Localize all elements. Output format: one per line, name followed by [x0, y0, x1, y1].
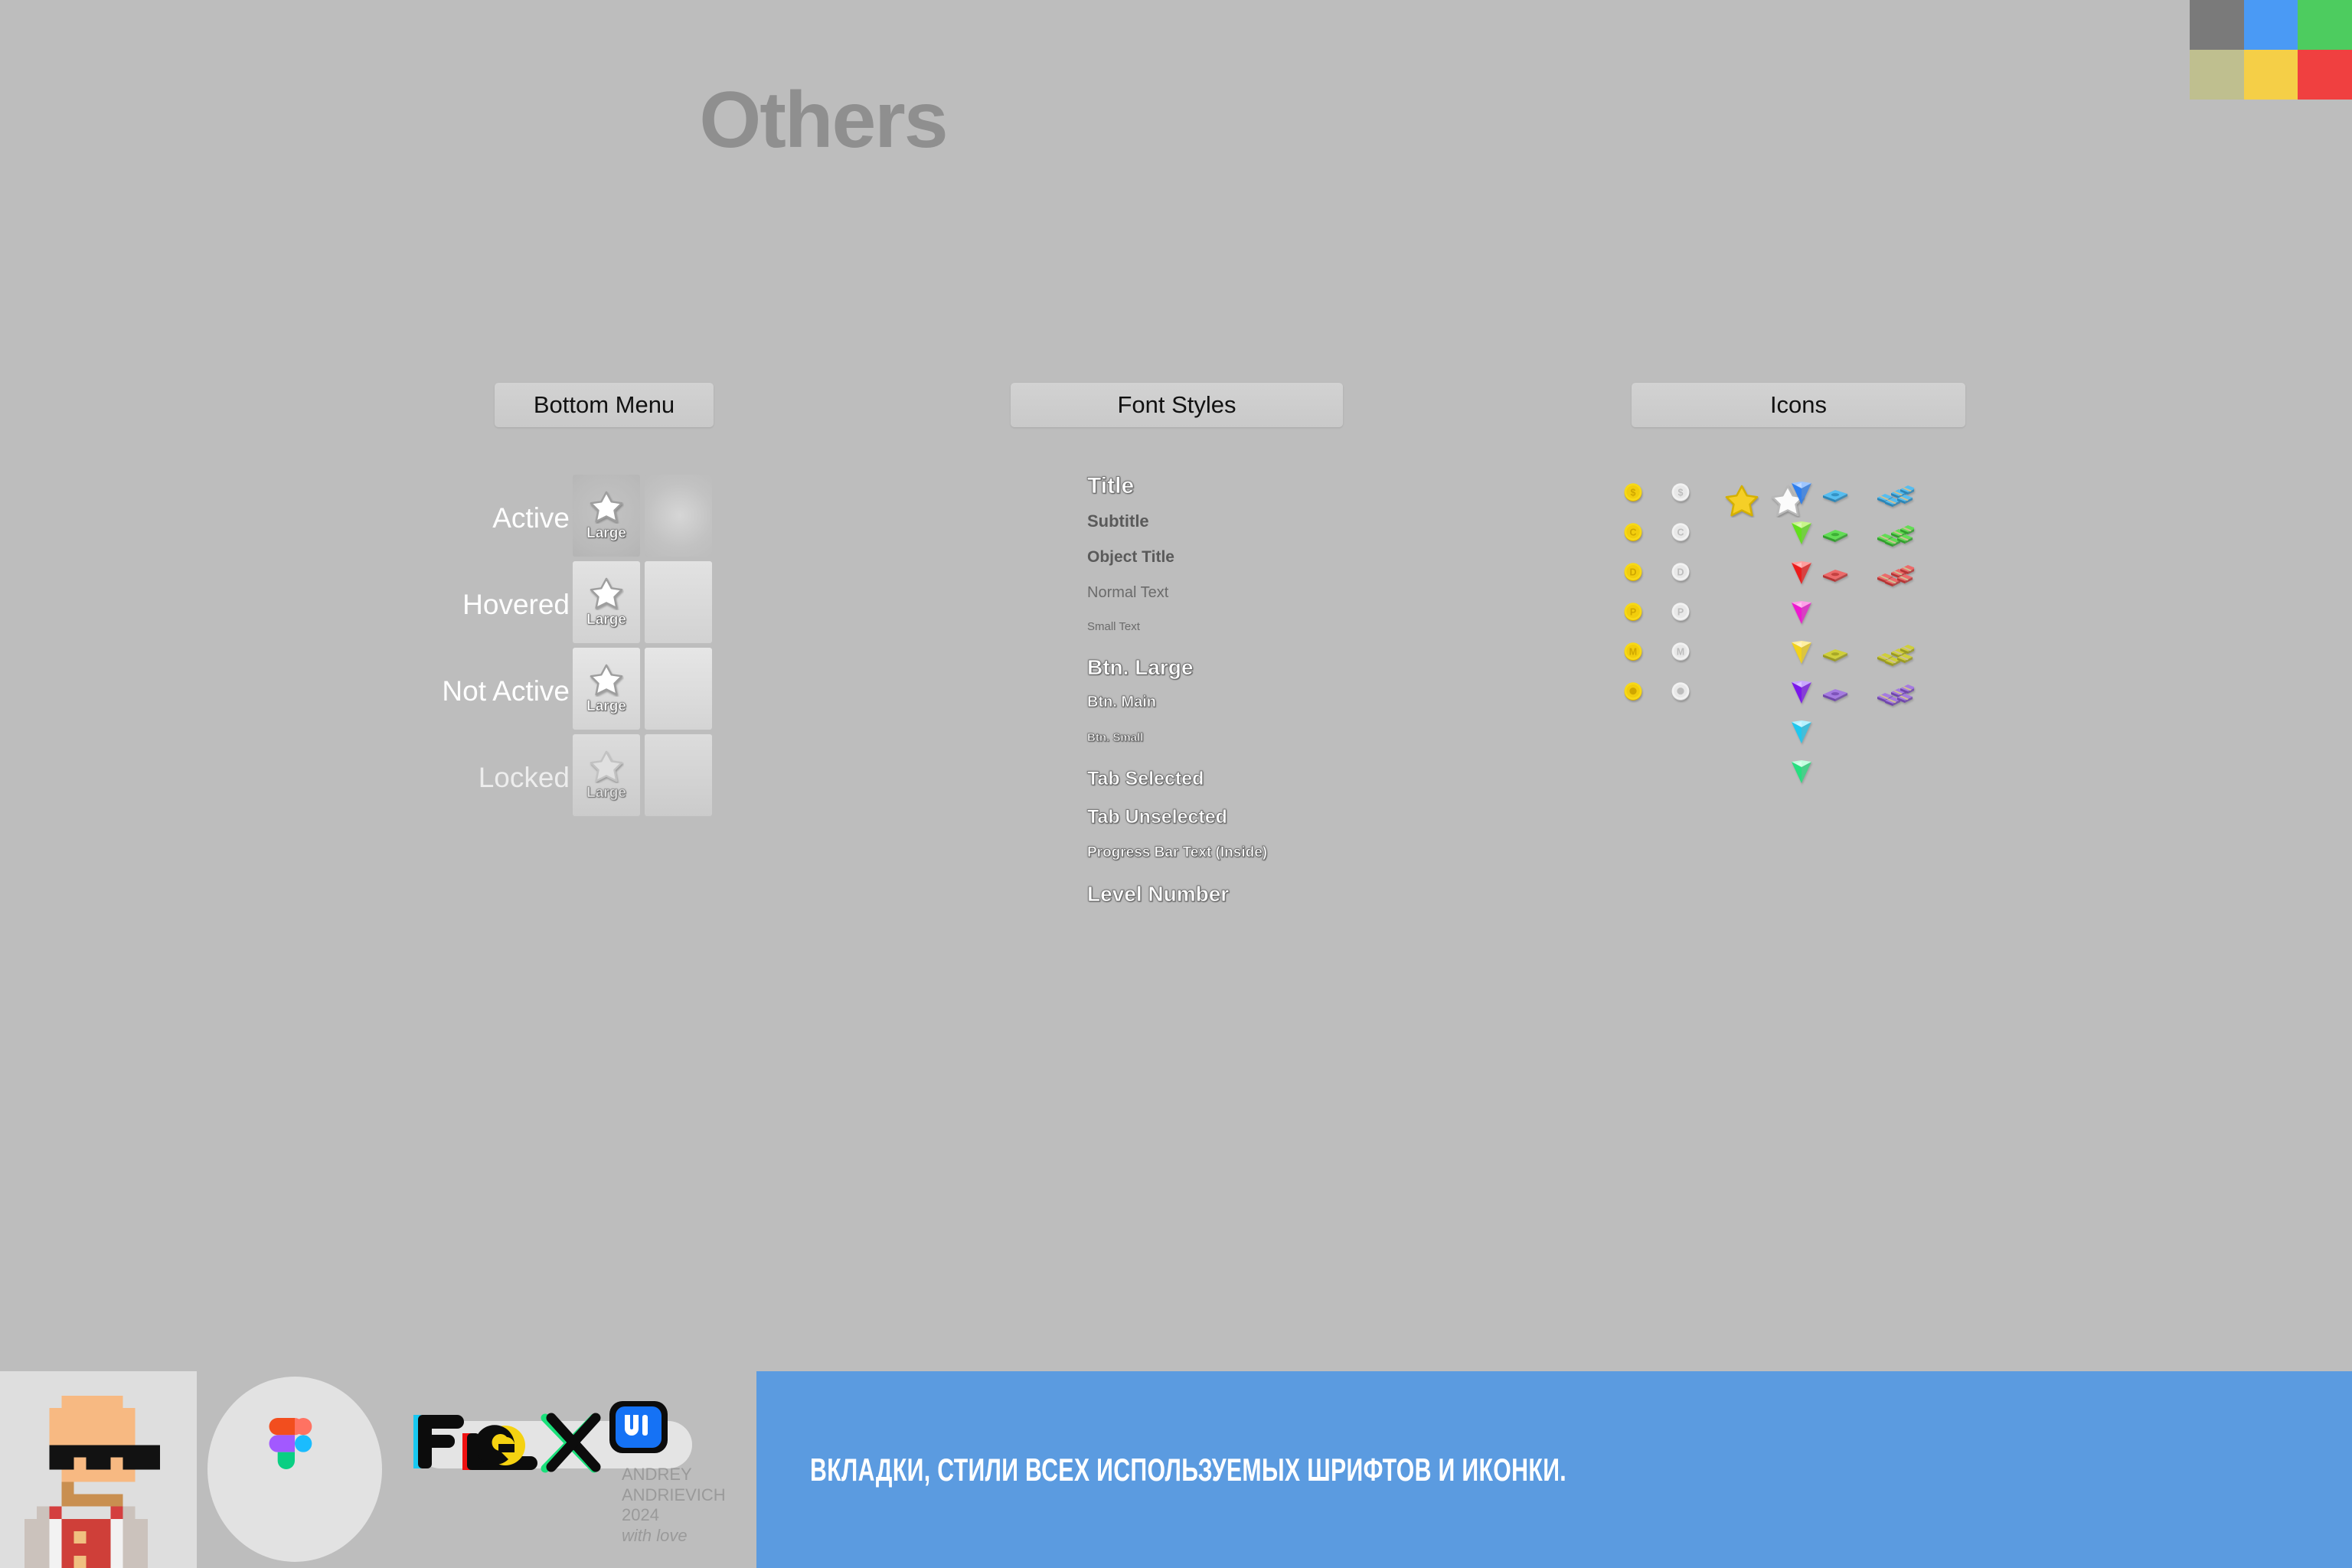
gem-mint	[1790, 759, 1813, 788]
star-icon	[589, 490, 624, 524]
font-style-sample: Normal Text	[1087, 584, 1485, 602]
gem-icon	[1790, 640, 1813, 665]
money-bundle-icon	[1821, 527, 1850, 544]
gold-coin-c: C	[1623, 522, 1643, 546]
coin-icon: P	[1623, 602, 1643, 622]
coin-icon	[1623, 681, 1643, 701]
money-pile-icon	[1876, 642, 1914, 666]
coin-icon: C	[1671, 522, 1690, 542]
gem-icon	[1790, 759, 1813, 784]
bottom-menu-tile-empty-locked[interactable]	[645, 734, 712, 816]
coin-icon: P	[1671, 602, 1690, 622]
money-bundle-red	[1821, 567, 1850, 587]
svg-text:D: D	[1677, 567, 1684, 578]
font-style-sample: Btn. Large	[1087, 655, 1485, 680]
avatar	[0, 1371, 197, 1568]
figma-logo	[207, 1377, 382, 1562]
silver-coin-m: M	[1671, 642, 1690, 665]
money-pile-icon	[1876, 562, 1914, 586]
silver-coin-o	[1671, 681, 1690, 705]
coin-icon: D	[1623, 562, 1643, 582]
font-style-sample: Small Text	[1087, 620, 1485, 633]
bottom-menu-tile-label: Large	[586, 698, 626, 715]
font-style-sample: Btn. Small	[1087, 731, 1485, 744]
banner-text: ВКЛАДКИ, СТИЛИ ВСЕХ ИСПОЛЬЗУЕМЫХ ШРИФТОВ…	[810, 1452, 1566, 1488]
gem-icon	[1790, 680, 1813, 704]
gold-coin-m: M	[1623, 642, 1643, 665]
silver-coin-p: P	[1671, 602, 1690, 626]
gem-blue	[1790, 481, 1813, 509]
font-style-sample: Tab Unselected	[1087, 806, 1485, 828]
bottom-menu-tile-empty-normal[interactable]	[645, 648, 712, 730]
font-style-sample: Title	[1087, 473, 1485, 499]
star-icon	[1724, 484, 1759, 518]
svg-text:P: P	[1630, 607, 1636, 618]
bottom-menu-tile-empty-hover[interactable]	[645, 561, 712, 643]
coin-icon: M	[1623, 642, 1643, 661]
gem-magenta	[1790, 600, 1813, 629]
silver-coin-$: $	[1671, 482, 1690, 506]
money-pile-purple	[1876, 681, 1914, 710]
font-style-sample: Object Title	[1087, 548, 1485, 567]
bottom-menu-state-label: Active	[492, 502, 570, 534]
silver-coin-c: C	[1671, 522, 1690, 546]
credits-line-3: 2024	[622, 1505, 726, 1526]
gem-icon	[1790, 481, 1813, 505]
star-icon	[589, 750, 624, 783]
gem-icon	[1790, 600, 1813, 625]
svg-text:C: C	[1629, 528, 1636, 538]
info-banner: ВКЛАДКИ, СТИЛИ ВСЕХ ИСПОЛЬЗУЕМЫХ ШРИФТОВ…	[756, 1371, 2352, 1568]
money-pile-red	[1876, 562, 1914, 590]
bottom-menu-row: LockedLarge	[337, 734, 720, 821]
color-swatch-red	[2298, 50, 2352, 100]
money-bundle-icon	[1821, 567, 1850, 583]
gem-icon	[1790, 521, 1813, 545]
bottom-menu-row: HoveredLarge	[337, 561, 720, 648]
section-header-font-styles: Font Styles	[1011, 383, 1343, 427]
font-style-sample: Progress Bar Text (Inside)	[1087, 844, 1485, 861]
font-style-sample: Subtitle	[1087, 511, 1485, 531]
coin-icon: C	[1623, 522, 1643, 542]
money-pile-icon	[1876, 482, 1914, 507]
svg-text:M: M	[1677, 647, 1684, 658]
money-bundle-icon	[1821, 646, 1850, 663]
color-swatch-grid	[2190, 0, 2352, 100]
credits-line-4: with love	[622, 1526, 726, 1547]
bottom-menu-tile-normal[interactable]: Large	[573, 648, 640, 730]
gem-yellow	[1790, 640, 1813, 668]
color-swatch-khaki	[2190, 50, 2244, 100]
star-icon	[589, 663, 624, 697]
gold-coin-$: $	[1623, 482, 1643, 506]
gold-coin-p: P	[1623, 602, 1643, 626]
coin-icon: $	[1623, 482, 1643, 502]
svg-text:$: $	[1678, 488, 1684, 498]
bottom-menu-tile-label: Large	[586, 525, 626, 542]
money-pile-yellow	[1876, 642, 1914, 670]
gem-green	[1790, 521, 1813, 549]
gem-red	[1790, 560, 1813, 589]
bottom-menu-tile-locked[interactable]: Large	[573, 734, 640, 816]
section-header-bottom-menu: Bottom Menu	[495, 383, 714, 427]
bottom-menu-state-label: Hovered	[462, 589, 570, 621]
bottom-menu-row: ActiveLarge	[337, 475, 720, 561]
bottom-menu-tile-label: Large	[586, 785, 626, 802]
bottom-menu-row: Not ActiveLarge	[337, 648, 720, 734]
bottom-menu-state-label: Locked	[479, 762, 570, 794]
icons-section: $CDPM$CDPM	[1623, 482, 1983, 789]
gem-cyan	[1790, 720, 1813, 748]
svg-text:P: P	[1677, 607, 1684, 618]
font-style-sample: Level Number	[1087, 882, 1485, 906]
coin-icon: $	[1671, 482, 1690, 502]
bottom-menu-tile-label: Large	[586, 612, 626, 629]
gold-star-icon	[1724, 484, 1759, 518]
silver-coin-d: D	[1671, 562, 1690, 586]
footer-bar: ANDREY ANDRIEVICH 2024 with love	[0, 1371, 756, 1568]
money-pile-icon	[1876, 522, 1914, 547]
gem-icon	[1790, 720, 1813, 744]
svg-text:D: D	[1629, 567, 1636, 578]
svg-text:M: M	[1629, 647, 1637, 658]
money-bundle-green	[1821, 527, 1850, 547]
credits: ANDREY ANDRIEVICH 2024 with love	[622, 1465, 726, 1547]
money-bundle-icon	[1821, 487, 1850, 504]
color-swatch-gray	[2190, 0, 2244, 50]
bottom-menu-section: ActiveLargeHoveredLargeNot ActiveLargeLo…	[337, 475, 720, 821]
gold-coin-d: D	[1623, 562, 1643, 586]
bottom-menu-tile-hover[interactable]: Large	[573, 561, 640, 643]
font-styles-section: TitleSubtitleObject TitleNormal TextSmal…	[1087, 473, 1485, 916]
color-swatch-green	[2298, 0, 2352, 50]
coin-icon	[1671, 681, 1690, 701]
money-bundle-yellow	[1821, 646, 1850, 667]
money-pile-icon	[1876, 681, 1914, 706]
credits-line-1: ANDREY	[622, 1465, 726, 1485]
coin-icon: D	[1671, 562, 1690, 582]
page-title: Others	[0, 75, 1646, 166]
star-icon	[589, 577, 624, 610]
money-bundle-icon	[1821, 686, 1850, 703]
bottom-menu-tile-empty-active[interactable]	[645, 475, 712, 557]
gem-purple	[1790, 680, 1813, 708]
svg-text:C: C	[1677, 528, 1684, 538]
money-pile-green	[1876, 522, 1914, 550]
gem-icon	[1790, 560, 1813, 585]
money-pile-blue	[1876, 482, 1914, 511]
money-bundle-blue	[1821, 487, 1850, 508]
font-style-sample: Btn. Main	[1087, 694, 1485, 711]
money-bundle-purple	[1821, 686, 1850, 707]
bottom-menu-tile-active[interactable]: Large	[573, 475, 640, 557]
coin-icon: M	[1671, 642, 1690, 661]
color-swatch-blue	[2244, 0, 2298, 50]
gold-coin-o	[1623, 681, 1643, 705]
color-swatch-yellow	[2244, 50, 2298, 100]
bottom-menu-state-label: Not Active	[442, 675, 570, 707]
svg-text:$: $	[1631, 488, 1636, 498]
section-header-icons: Icons	[1632, 383, 1965, 427]
font-style-sample: Tab Selected	[1087, 768, 1485, 790]
credits-line-2: ANDRIEVICH	[622, 1485, 726, 1506]
